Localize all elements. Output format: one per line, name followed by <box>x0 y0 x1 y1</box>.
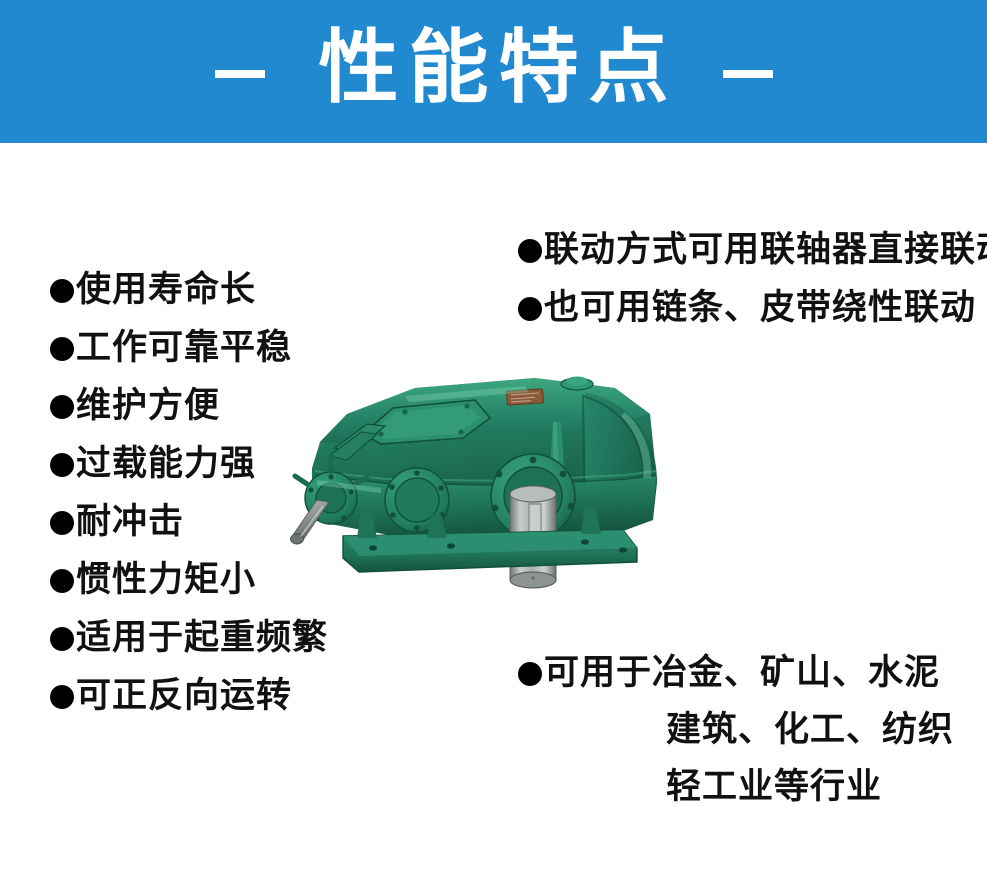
list-item: 也可用链条、皮带绕性联动 <box>518 290 976 325</box>
feature-label: 使用寿命长 <box>76 272 256 307</box>
bullet-dot-icon <box>50 511 74 535</box>
feature-label: 工作可靠平稳 <box>76 330 292 365</box>
list-item: 过载能力强 <box>50 446 256 481</box>
list-item: 惯性力矩小 <box>50 562 256 597</box>
gearbox-reducer-photo <box>285 372 675 597</box>
bullet-dot-icon <box>50 279 74 303</box>
title-dash-right-icon <box>723 70 773 78</box>
breather-cap <box>561 377 593 391</box>
bullet-dot-icon <box>518 239 542 263</box>
feature-label: 适用于起重频繁 <box>76 620 328 655</box>
list-item: 可用于冶金、矿山、水泥 <box>518 655 940 690</box>
feature-label: 耐冲击 <box>76 504 184 539</box>
bullet-dot-icon <box>50 685 74 709</box>
feature-continuation-line: 建筑、化工、纺织 <box>666 712 954 747</box>
feature-label: 可用于冶金、矿山、水泥 <box>544 655 940 690</box>
right-bottom-feature-list: 可用于冶金、矿山、水泥 建筑、化工、纺织 轻工业等行业 <box>518 655 987 825</box>
bullet-dot-icon <box>50 453 74 477</box>
list-item: 工作可靠平稳 <box>50 330 292 365</box>
page-title: 性能特点 <box>309 29 679 115</box>
list-item: 维护方便 <box>50 388 220 423</box>
list-item: 使用寿命长 <box>50 272 256 307</box>
feature-continuation-line: 轻工业等行业 <box>666 769 882 804</box>
bullet-dot-icon <box>518 297 542 321</box>
feature-label: 过载能力强 <box>76 446 256 481</box>
bullet-dot-icon <box>518 662 542 686</box>
bullet-dot-icon <box>50 569 74 593</box>
feature-label: 联动方式可用联轴器直接联动 <box>544 232 987 267</box>
feature-label: 可正反向运转 <box>76 678 292 713</box>
product-feature-poster: 性能特点 使用寿命长 工作可靠平稳 维护方便 过载能力强 耐冲击 惯性力矩小 <box>0 0 987 869</box>
list-item: 联动方式可用联轴器直接联动 <box>518 232 987 267</box>
feature-label: 惯性力矩小 <box>76 562 256 597</box>
list-item: 可正反向运转 <box>50 678 292 713</box>
bullet-dot-icon <box>50 627 74 651</box>
right-top-feature-list: 联动方式可用联轴器直接联动 也可用链条、皮带绕性联动 <box>518 232 987 342</box>
header-content: 性能特点 <box>0 0 987 143</box>
header-banner: 性能特点 <box>0 0 987 143</box>
bullet-dot-icon <box>50 395 74 419</box>
list-item: 适用于起重频繁 <box>50 620 328 655</box>
feature-label: 也可用链条、皮带绕性联动 <box>544 290 976 325</box>
bullet-dot-icon <box>50 337 74 361</box>
feature-label: 维护方便 <box>76 388 220 423</box>
title-dash-left-icon <box>215 70 265 78</box>
mounting-base-plate <box>343 530 637 572</box>
list-item: 耐冲击 <box>50 504 184 539</box>
